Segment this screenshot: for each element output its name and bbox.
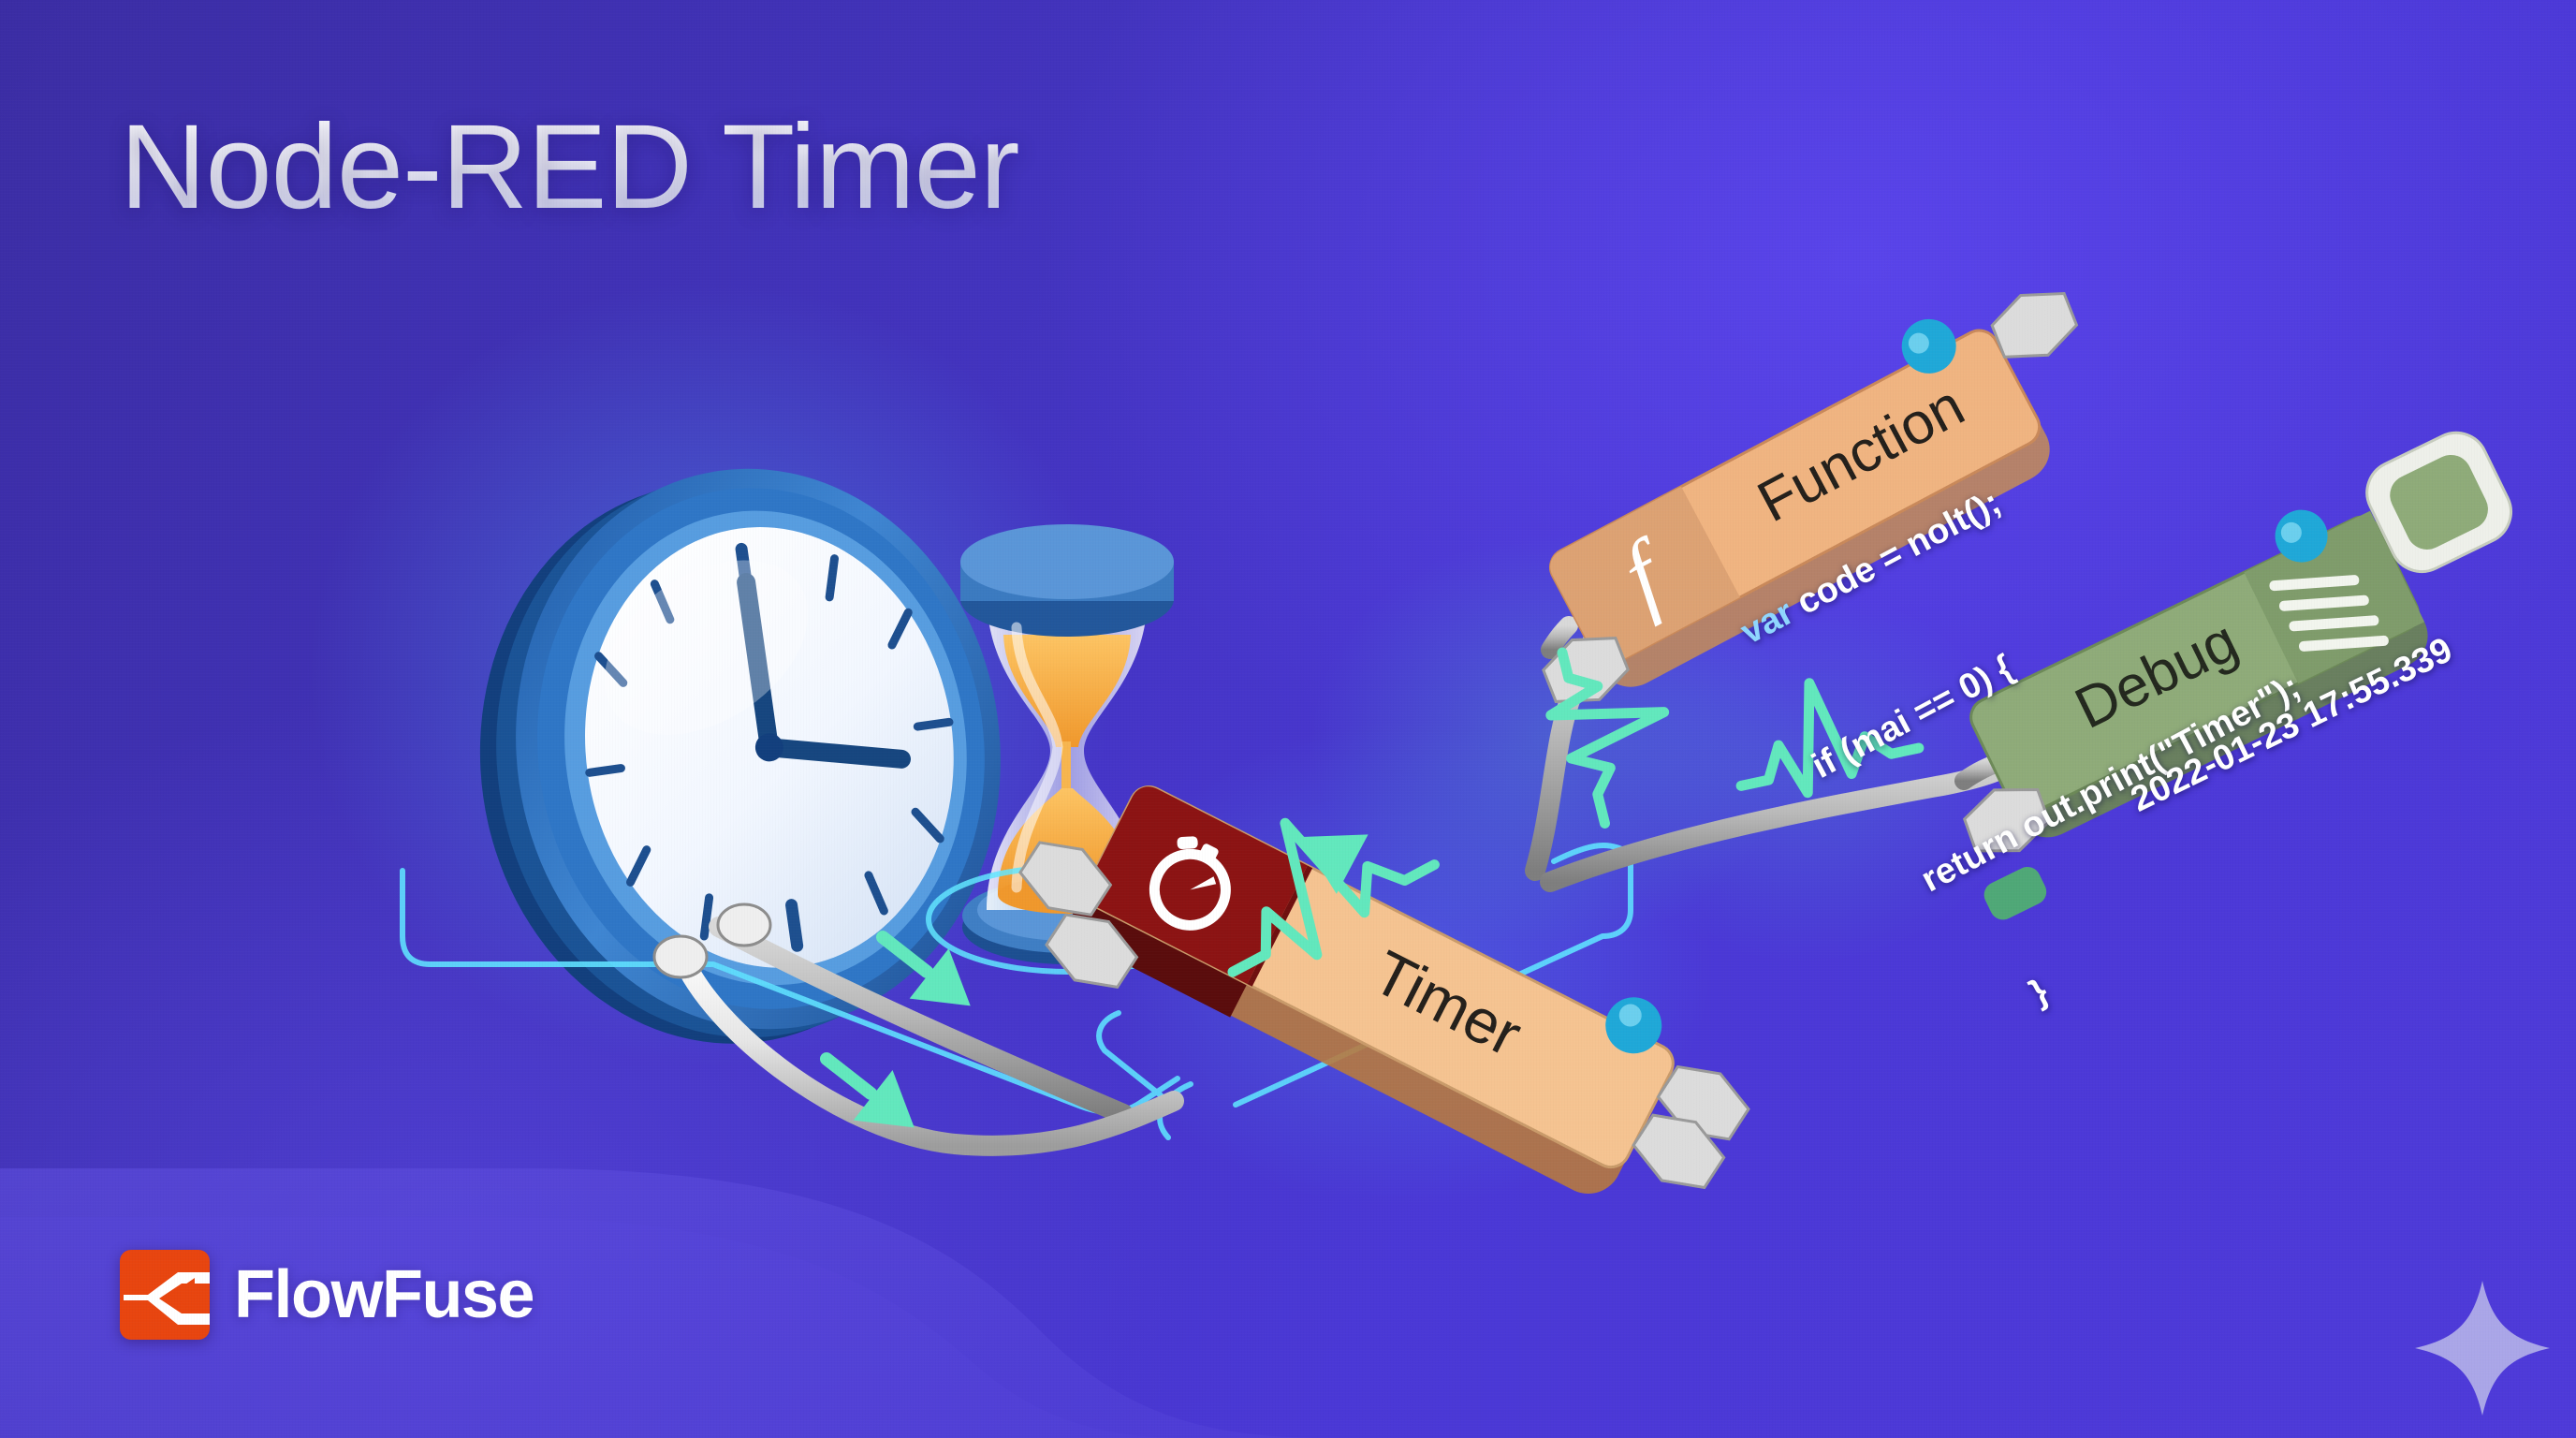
flowfuse-logo[interactable]: FlowFuse — [120, 1250, 534, 1340]
sparkle-decoration — [0, 0, 2576, 1438]
four-point-star-icon — [2415, 1281, 2550, 1416]
flowfuse-wordmark: FlowFuse — [234, 1261, 534, 1328]
flowfuse-mark-icon — [120, 1250, 210, 1340]
hero-banner: Node-RED Timer — [0, 0, 2576, 1438]
